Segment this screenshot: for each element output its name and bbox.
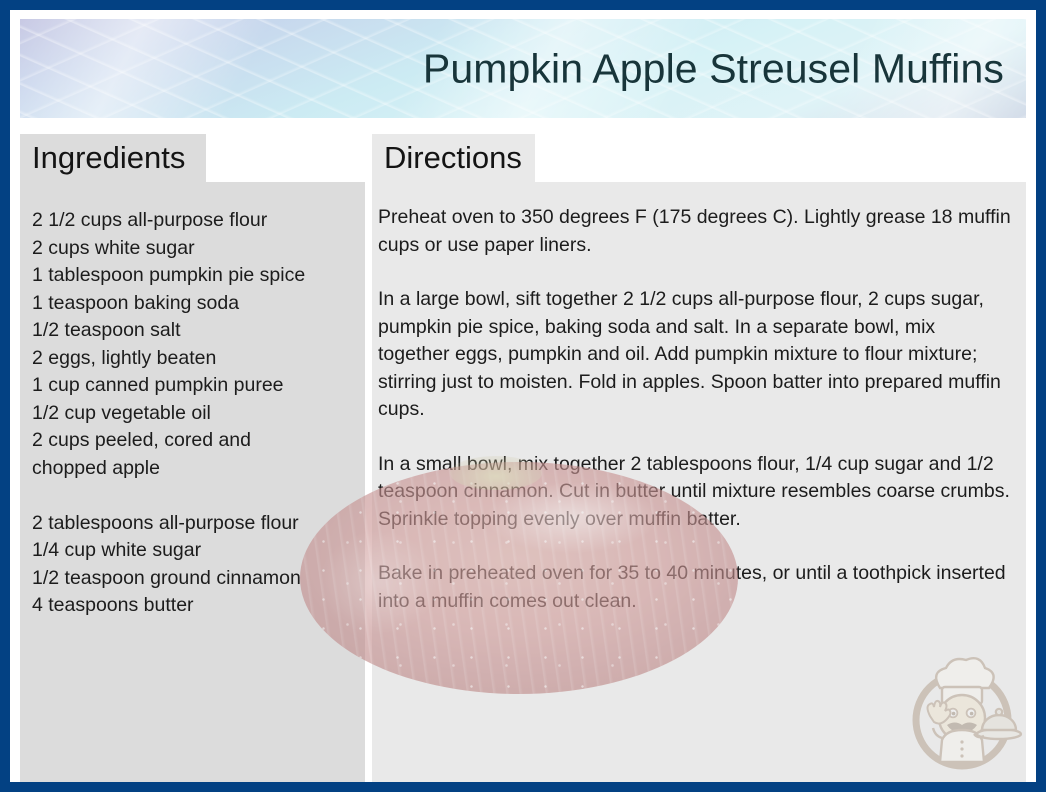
ingredients-list: 2 1/2 cups all-purpose flour 2 cups whit… xyxy=(20,182,365,782)
list-item: 1 teaspoon baking soda xyxy=(32,290,353,318)
direction-paragraph: In a large bowl, sift together 2 1/2 cup… xyxy=(378,286,1012,424)
directions-heading: Directions xyxy=(372,134,535,182)
slide-canvas: Pumpkin Apple Streusel Muffins Ingredien… xyxy=(10,10,1036,782)
list-item: 1 tablespoon pumpkin pie spice xyxy=(32,262,353,290)
chef-logo-icon xyxy=(900,650,1024,774)
list-item: 2 cups white sugar xyxy=(32,235,353,263)
list-item: 2 cups peeled, cored and xyxy=(32,427,353,455)
slide-frame: Pumpkin Apple Streusel Muffins Ingredien… xyxy=(0,0,1046,792)
ingredients-heading: Ingredients xyxy=(20,134,206,182)
list-item: 2 1/2 cups all-purpose flour xyxy=(32,207,353,235)
list-item: 1 cup canned pumpkin puree xyxy=(32,372,353,400)
direction-paragraph: In a small bowl, mix together 2 tablespo… xyxy=(378,451,1012,534)
list-item: 1/2 teaspoon salt xyxy=(32,317,353,345)
list-item: 2 tablespoons all-purpose flour xyxy=(32,510,353,538)
page-title: Pumpkin Apple Streusel Muffins xyxy=(423,47,1004,90)
title-banner: Pumpkin Apple Streusel Muffins xyxy=(20,19,1026,118)
list-item: 1/2 cup vegetable oil xyxy=(32,400,353,428)
list-item: 2 eggs, lightly beaten xyxy=(32,345,353,373)
list-item: 4 teaspoons butter xyxy=(32,592,353,620)
list-item-spacer xyxy=(32,482,353,510)
list-item: 1/4 cup white sugar xyxy=(32,537,353,565)
direction-paragraph: Bake in preheated oven for 35 to 40 minu… xyxy=(378,560,1012,615)
list-item: chopped apple xyxy=(32,455,353,483)
direction-paragraph: Preheat oven to 350 degrees F (175 degre… xyxy=(378,204,1012,259)
list-item: 1/2 teaspoon ground cinnamon xyxy=(32,565,353,593)
